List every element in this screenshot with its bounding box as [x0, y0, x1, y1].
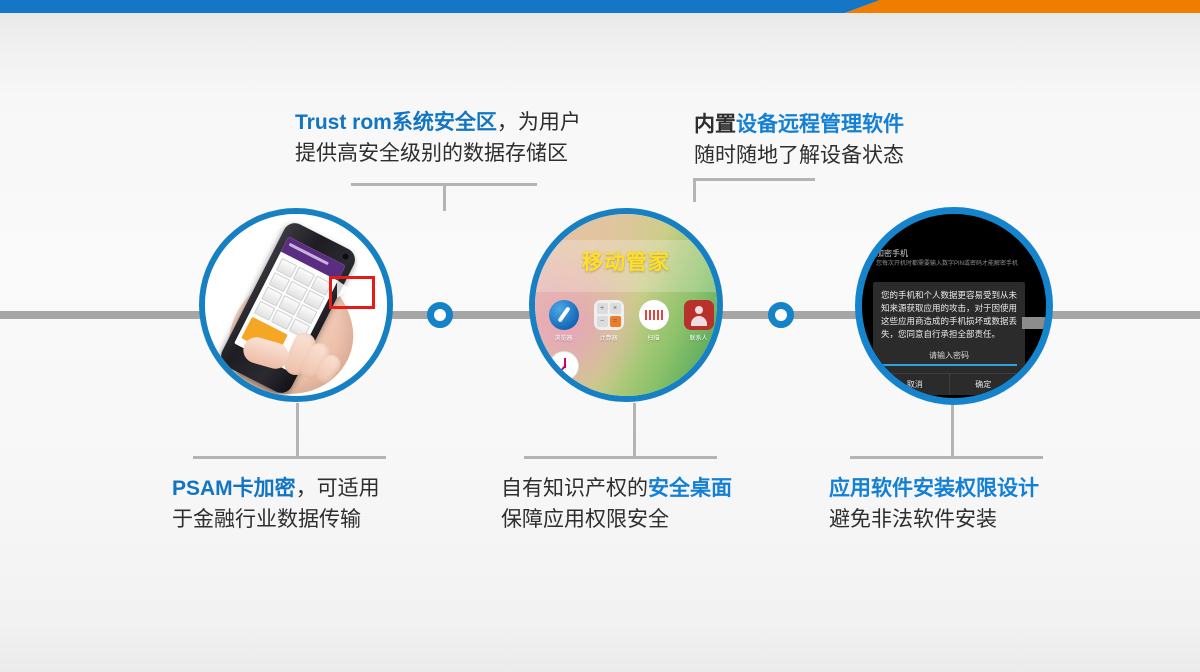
callout-top-left: Trust rom系统安全区，为用户 提供高安全级别的数据存储区: [295, 107, 581, 169]
app-contacts[interactable]: 联系人: [676, 300, 721, 342]
dialog-buttons: 取消 确定: [881, 373, 1017, 395]
callout-bottom-middle-line1: 自有知识产权的安全桌面: [501, 473, 732, 504]
play-icon[interactable]: [337, 280, 350, 298]
calc-key-equals: =: [610, 316, 621, 327]
callout-top-right: 内置设备远程管理软件 随时随地了解设备状态: [694, 109, 904, 171]
image-circle-pos-terminal[interactable]: [199, 208, 393, 402]
permission-dialog: 您的手机和个人数据更容易受到从未知来源获取应用的攻击，对于因使用这些应用商造成的…: [873, 282, 1025, 395]
browser-icon: [549, 300, 579, 330]
callout-highlight: 设备远程管理软件: [736, 113, 904, 136]
callout-top-right-line1: 内置设备远程管理软件: [694, 109, 904, 140]
callout-top-left-line1: Trust rom系统安全区，为用户: [295, 107, 581, 138]
connector-bottom-right-horizontal: [850, 456, 1043, 459]
timeline-node-2[interactable]: [768, 302, 794, 328]
app-label: 浏览器: [541, 333, 586, 342]
calculator-icon: + × − =: [594, 300, 624, 330]
callout-bottom-right-line1: 应用软件安装权限设计: [829, 473, 1039, 504]
callout-top-left-line2: 提供高安全级别的数据存储区: [295, 138, 581, 169]
app-label: 联系人: [676, 333, 721, 342]
dialog-message: 您的手机和个人数据更容易受到从未知来源获取应用的攻击，对于因使用这些应用商造成的…: [881, 289, 1017, 341]
app-calculator[interactable]: + × − = 计算器: [586, 300, 631, 342]
app-scan[interactable]: 扫描: [631, 300, 676, 342]
app-row-1: 浏览器 + × − = 计算器 扫描 联系人: [541, 300, 723, 342]
callout-rest: ，为用户: [497, 111, 581, 134]
top-bar-blue-segment: [0, 0, 880, 13]
app-row-2: 时钟: [541, 351, 723, 393]
connector-top-right-horizontal: [693, 178, 815, 181]
app-browser[interactable]: 浏览器: [541, 300, 586, 342]
red-highlight-box: [329, 276, 375, 309]
callout-highlight: 安全桌面: [648, 477, 732, 500]
connector-top-right-stem: [693, 178, 696, 202]
app-label: 扫描: [631, 333, 676, 342]
top-bar-shape: [0, 0, 1200, 13]
callout-highlight: PSAM卡加密: [172, 477, 296, 500]
pos-status-line: [288, 243, 329, 266]
callout-highlight: Trust rom系统安全区: [295, 111, 497, 134]
image-circle-secure-desktop[interactable]: 移动管家 浏览器 + × − = 计算器: [529, 208, 723, 402]
callout-highlight: 应用软件安装权限设计: [829, 477, 1039, 500]
encrypt-phone-title: 加密手机: [876, 248, 908, 259]
callout-bottom-left-line2: 于金融行业数据传输: [172, 504, 380, 535]
pos-camera-dot: [342, 253, 350, 261]
connector-bottom-middle-horizontal: [524, 456, 717, 459]
contacts-icon: [684, 300, 714, 330]
app-clock[interactable]: 时钟: [541, 351, 586, 393]
clock-icon: [549, 351, 579, 381]
callout-plain: 自有知识产权的: [501, 477, 648, 500]
cancel-button[interactable]: 取消: [881, 374, 949, 395]
confirm-button[interactable]: 确定: [949, 374, 1018, 395]
callout-plain: 内置: [694, 113, 736, 136]
connector-bottom-left-stem: [296, 403, 299, 456]
app-label: 时钟: [541, 384, 586, 393]
callout-bottom-middle-line2: 保障应用权限安全: [501, 504, 732, 535]
desktop-app-grid: 浏览器 + × − = 计算器 扫描 联系人: [541, 300, 723, 393]
callout-bottom-left: PSAM卡加密，可适用 于金融行业数据传输: [172, 473, 380, 535]
encrypt-phone-subtitle: 您每次开机时都需要输入数字PIN或密码才能解密手机: [876, 260, 1026, 269]
screen-edge-artifact: [1022, 317, 1050, 329]
callout-rest: ，可适用: [296, 477, 380, 500]
callout-bottom-right-line2: 避免非法软件安装: [829, 504, 1039, 535]
app-label: 计算器: [586, 333, 631, 342]
calc-key-times: ×: [610, 303, 621, 314]
calc-key-plus: +: [597, 303, 608, 314]
image-circle-encryption-dialog[interactable]: 加密手机 您每次开机时都需要输入数字PIN或密码才能解密手机 您的手机和个人数据…: [855, 207, 1053, 405]
connector-bottom-left-horizontal: [193, 456, 386, 459]
top-decorative-bar: [0, 0, 1200, 13]
timeline-node-1[interactable]: [427, 302, 453, 328]
desktop-title: 移动管家: [535, 246, 717, 276]
callout-bottom-left-line1: PSAM卡加密，可适用: [172, 473, 380, 504]
top-bar-orange-segment: [845, 0, 1200, 13]
callout-bottom-middle: 自有知识产权的安全桌面 保障应用权限安全: [501, 473, 732, 535]
callout-bottom-right: 应用软件安装权限设计 避免非法软件安装: [829, 473, 1039, 535]
connector-bottom-right-stem: [951, 404, 954, 456]
calc-key-minus: −: [597, 316, 608, 327]
password-input[interactable]: 请输入密码: [881, 350, 1017, 366]
callout-top-right-line2: 随时随地了解设备状态: [694, 140, 904, 171]
connector-bottom-middle-stem: [633, 403, 636, 456]
connector-top-left-stem: [443, 183, 446, 211]
scan-icon: [639, 300, 669, 330]
